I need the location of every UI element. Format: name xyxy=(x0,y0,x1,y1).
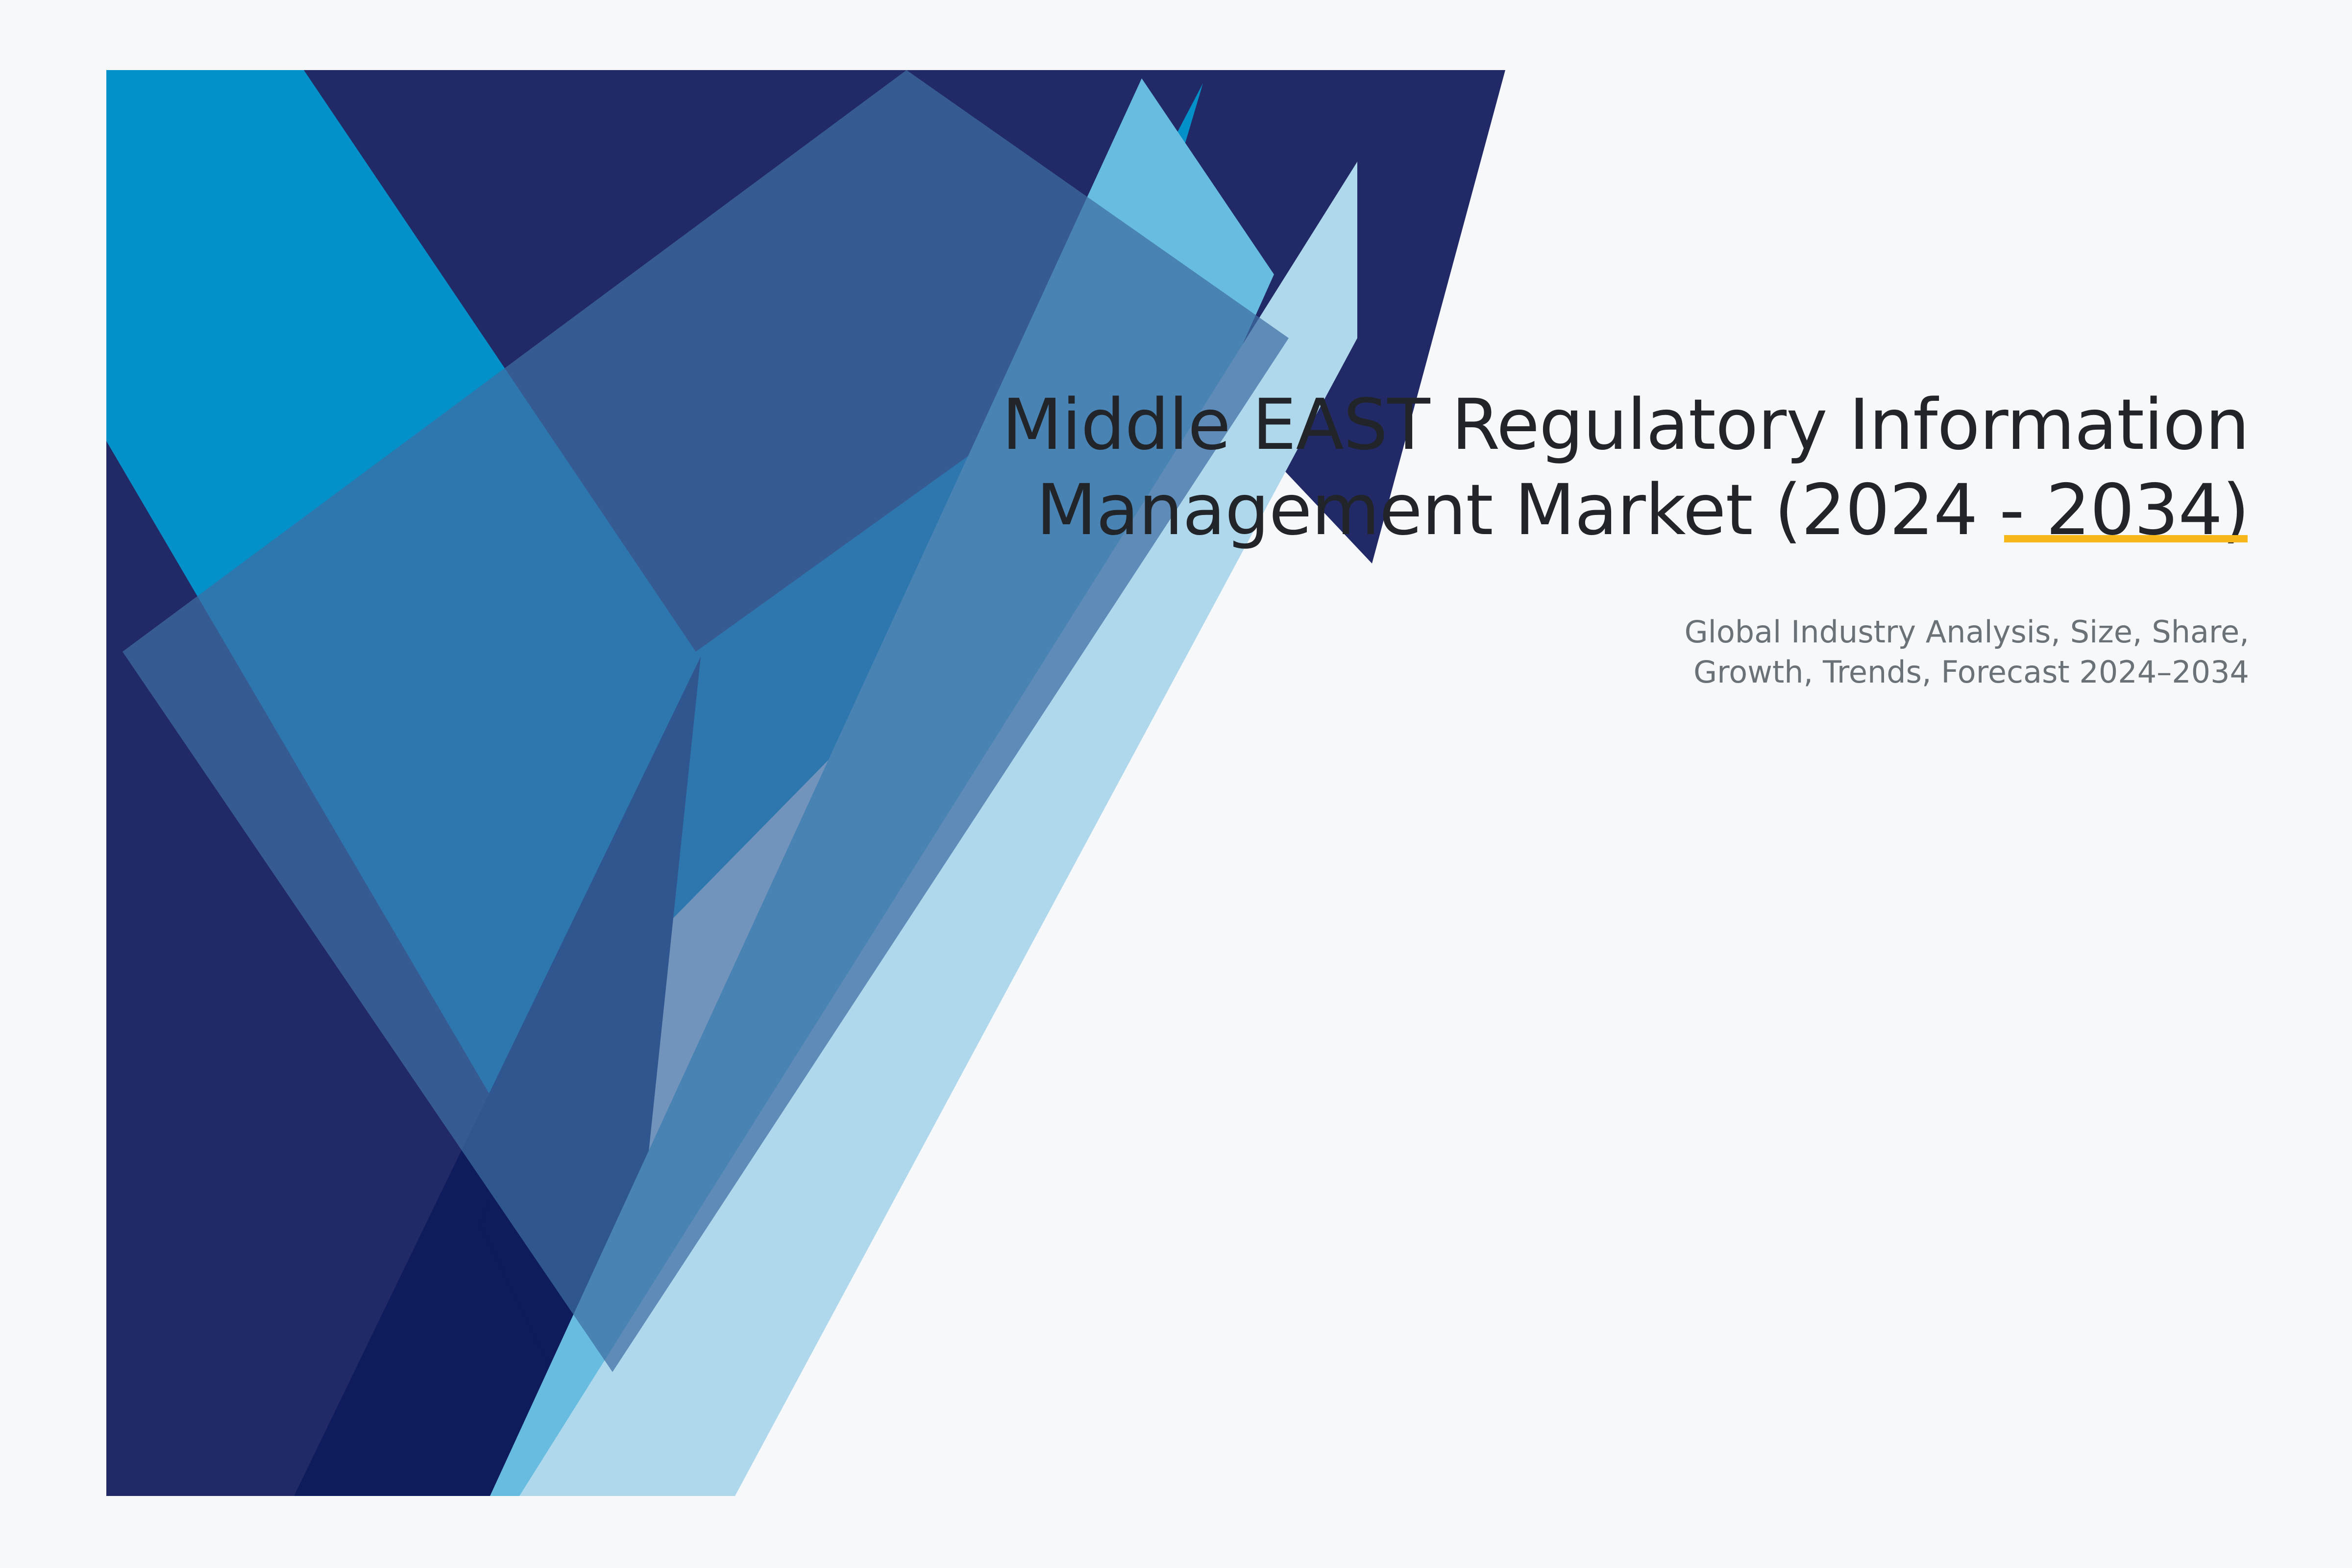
page-subtitle: Global Industry Analysis, Size, Share, G… xyxy=(833,553,2249,693)
light-blue-ribbon-2 xyxy=(603,162,1357,1496)
cyan-field xyxy=(106,70,1505,1496)
deep-navy-wedge-2 xyxy=(480,657,701,1496)
page-title-wrap: Middle EAST Regulatory Information Manag… xyxy=(833,382,2249,553)
slide-canvas: Middle EAST Regulatory Information Manag… xyxy=(0,0,2352,1568)
cyan-spike xyxy=(1039,83,1203,397)
light-blue-ribbon xyxy=(519,162,1357,1496)
slate-blue-panel xyxy=(122,70,1289,1372)
artwork-base xyxy=(106,70,1505,1496)
deep-navy-wedge xyxy=(294,657,701,1496)
cover-text-block: Middle EAST Regulatory Information Manag… xyxy=(833,382,2249,693)
mid-blue-ribbon xyxy=(490,78,1274,1496)
abstract-geometric-cover-graphic xyxy=(0,0,2352,1568)
navy-lower-left xyxy=(106,441,725,1496)
page-title: Middle EAST Regulatory Information Manag… xyxy=(833,382,2249,553)
accent-underline-icon xyxy=(2004,535,2248,542)
